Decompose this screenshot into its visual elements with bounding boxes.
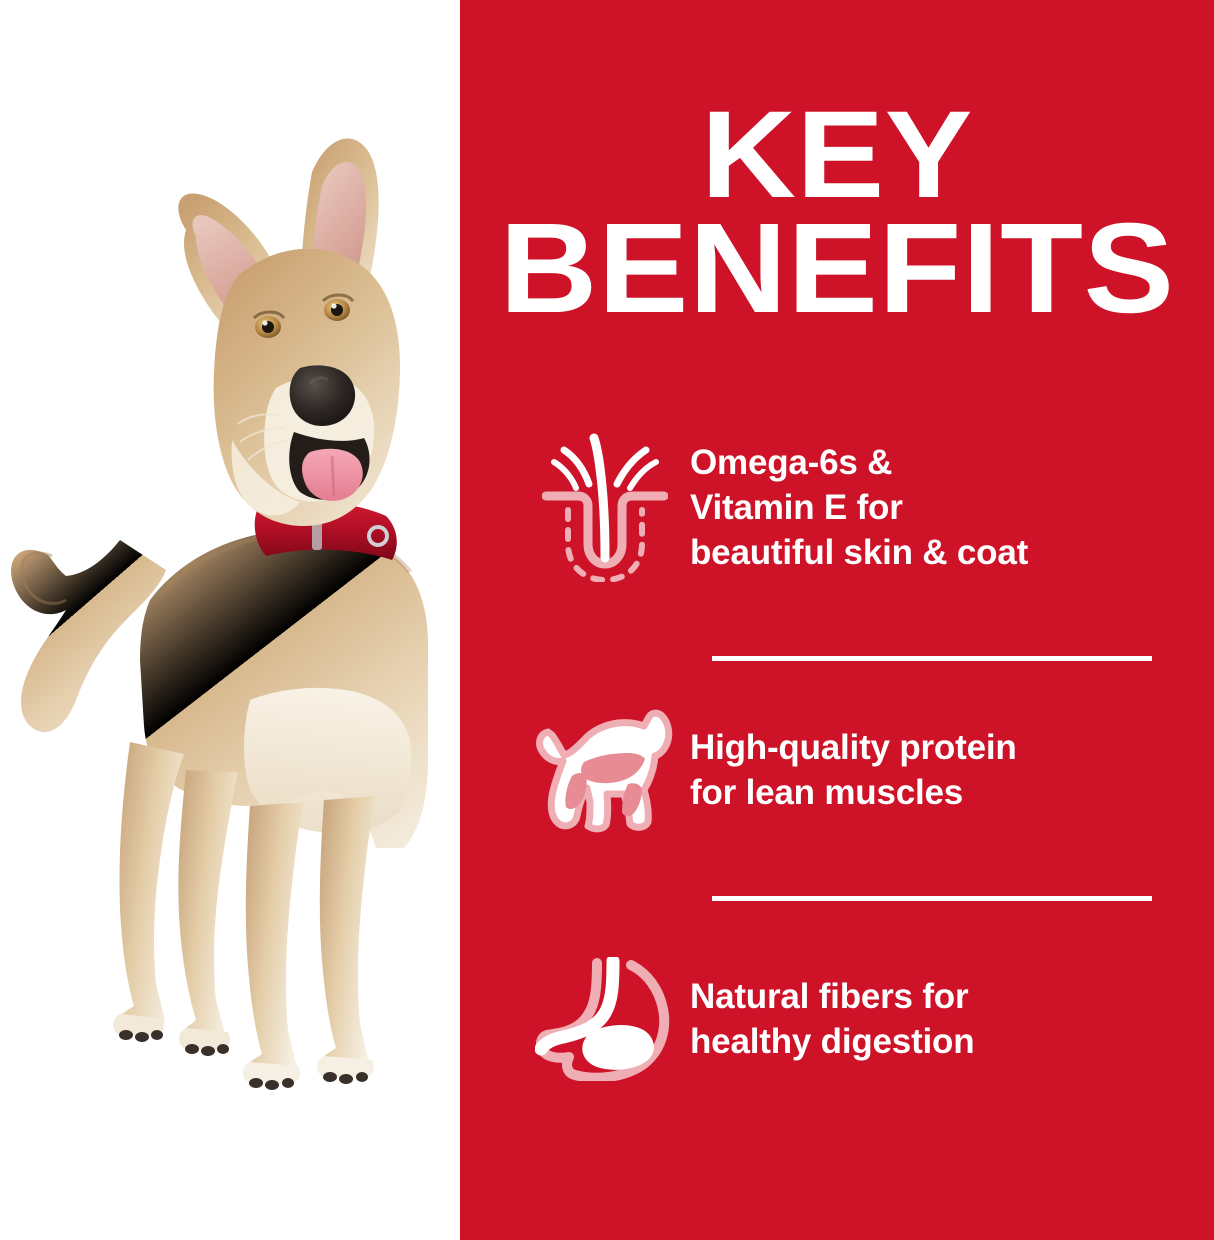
hair-follicle-icon [520, 432, 690, 582]
benefit-item-protein-muscles: High-quality protein for lean muscles [520, 700, 1214, 840]
title-line-benefits: BENEFITS [437, 212, 1214, 326]
dog-photo-panel [0, 0, 460, 1240]
benefit-label-protein-muscles: High-quality protein for lean muscles [690, 725, 1214, 815]
dog-photo [0, 0, 460, 1240]
dog-muscle-icon [520, 706, 690, 834]
benefit-divider [712, 896, 1152, 901]
benefit-label-skin-coat: Omega-6s & Vitamin E for beautiful skin … [690, 440, 1214, 575]
title-line-key: KEY [437, 98, 1214, 212]
page-title: KEY BENEFITS [437, 98, 1214, 326]
benefit-label-fibers-digestion: Natural fibers for healthy digestion [690, 974, 1214, 1064]
benefit-divider [712, 656, 1152, 661]
benefit-item-skin-coat: Omega-6s & Vitamin E for beautiful skin … [520, 418, 1214, 596]
stomach-digestion-icon [520, 957, 690, 1081]
key-benefits-product-panel: KEY BENEFITS Omega- [0, 0, 1214, 1240]
benefit-item-fibers-digestion: Natural fibers for healthy digestion [520, 955, 1214, 1083]
benefits-panel: KEY BENEFITS Omega- [460, 0, 1214, 1240]
